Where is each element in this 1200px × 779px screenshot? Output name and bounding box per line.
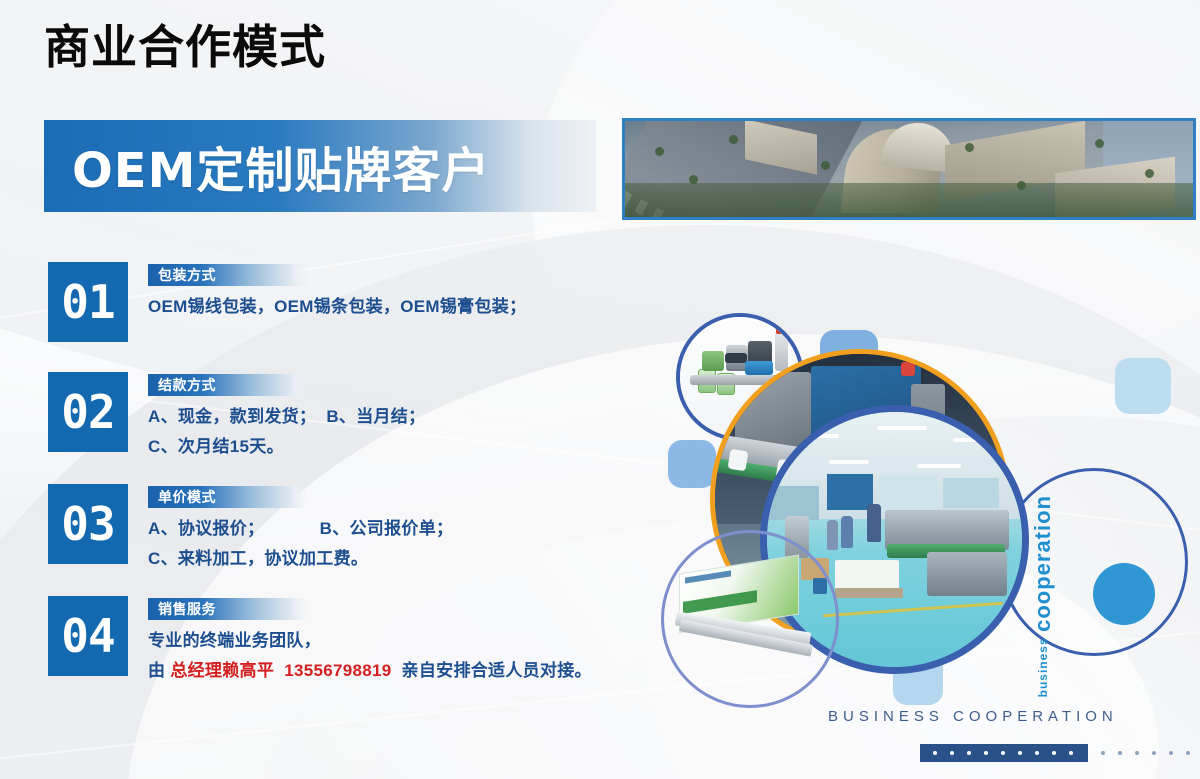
item-body-line: A、现金，款到发货； B、当月结； [148,402,425,432]
item-tag-label: 包装方式 [158,265,216,285]
footer-dot [1152,751,1156,755]
header-photo-tree [1095,139,1104,148]
item-number-badge: 04 [48,596,128,676]
photo-solderbar [673,556,821,674]
floor-marking [823,602,1003,618]
item-body: 专业的终端业务团队， 由 总经理赖高平 13556798819 亲自安排合适人员… [148,626,592,686]
footer-dot [1069,751,1073,755]
vertical-text-big: cooperation [1030,495,1055,632]
item-tag: 结款方式 [148,374,308,396]
worker [841,516,853,548]
decor-square-left [668,440,716,488]
header-photo-greenery [625,183,1193,217]
footer-dot [950,751,954,755]
item-number: 04 [61,609,114,663]
contact-prefix: 由 [148,661,170,680]
item-number: 01 [61,275,114,329]
footer-dot [1135,751,1139,755]
decor-square-right [1115,358,1171,414]
item-number-badge: 01 [48,262,128,342]
worker [867,504,881,542]
item-body: A、现金，款到发货； B、当月结； C、次月结15天。 [148,402,425,462]
pallet [835,588,903,598]
footer-dot [1001,751,1005,755]
item-body-line: OEM锡线包装，OEM锡条包装，OEM锡膏包装； [148,292,526,322]
item-number: 03 [61,497,114,551]
ceiling-lamp [953,438,995,442]
product-bottle-cap [776,327,787,334]
ceiling-lamp [829,460,869,464]
item-body: OEM锡线包装，OEM锡条包装，OEM锡膏包装； [148,292,526,322]
workshop-wall [767,486,819,520]
header-photo-tree [655,147,664,156]
item-contact-line: 由 总经理赖高平 13556798819 亲自安排合适人员对接。 [148,656,592,686]
item-tag: 包装方式 [148,264,308,286]
ceiling-lamp [917,464,961,468]
item-tag-label: 结款方式 [158,375,216,395]
footer-bar-filled [920,744,1088,762]
footer-dot [1035,751,1039,755]
poster-root: 商业合作模式 OEM定制贴牌客户 01 包装方式 OEM锡线包装，OEM [0,0,1200,779]
footer-dot [1101,751,1105,755]
footer-dot [933,751,937,755]
footer-dot-bar [920,744,1200,762]
footer-dot [984,751,988,755]
item-body-line: A、协议报价； B、公司报价单； [148,514,453,544]
footer-dot [967,751,971,755]
item-number: 02 [61,385,114,439]
decor-circle-outline-right [1000,468,1188,656]
header-photo [622,118,1196,220]
worker [827,520,838,550]
header-photo-tree [821,161,830,170]
contact-suffix: 亲自安排合适人员对接。 [402,661,592,680]
conveyor-bottle [728,449,749,472]
workshop-window [943,478,999,508]
item-body-line: C、来料加工，协议加工费。 [148,544,453,574]
footer-dot [1169,751,1173,755]
oem-banner-title: OEM定制贴牌客户 [72,131,490,201]
page-title: 商业合作模式 [44,24,326,70]
header-photo-tree [729,135,738,144]
header-photo-tree [965,143,974,152]
footer-dot [1052,751,1056,755]
workshop-window [879,476,937,510]
pallet-goods [835,560,899,590]
oem-banner: OEM定制贴牌客户 [44,120,596,212]
workshop-machine [927,552,1007,596]
contact-phone[interactable]: 13556798819 [284,661,391,680]
ceiling-lamp [877,426,927,430]
footer-caption: BUSINESS COOPERATION [828,708,1118,725]
ceiling-lamp [793,434,839,438]
item-body-line: 专业的终端业务团队， [148,626,592,656]
vertical-business-cooperation: business cooperation [1030,495,1056,697]
header-photo-tree [1017,181,1026,190]
contact-name: 总经理赖高平 [170,661,274,680]
item-body: A、协议报价； B、公司报价单； C、来料加工，协议加工费。 [148,514,453,574]
header-photo-tree [1145,169,1154,178]
footer-dot [1186,751,1190,755]
item-tag: 单价模式 [148,486,308,508]
machine-indicator [901,362,915,376]
decor-circle-solid [1093,563,1155,625]
item-number-badge: 03 [48,484,128,564]
header-photo-tree [689,175,698,184]
item-tag-label: 销售服务 [158,599,216,619]
workshop-wall-panel [827,474,873,510]
item-number-badge: 02 [48,372,128,452]
vertical-text-small: business [1036,637,1050,697]
item-tag: 销售服务 [148,598,308,620]
footer-dot [1018,751,1022,755]
footer-bar-empty [1088,744,1200,762]
footer-dot [1118,751,1122,755]
item-tag-label: 单价模式 [158,487,216,507]
item-body-line: C、次月结15天。 [148,432,425,462]
